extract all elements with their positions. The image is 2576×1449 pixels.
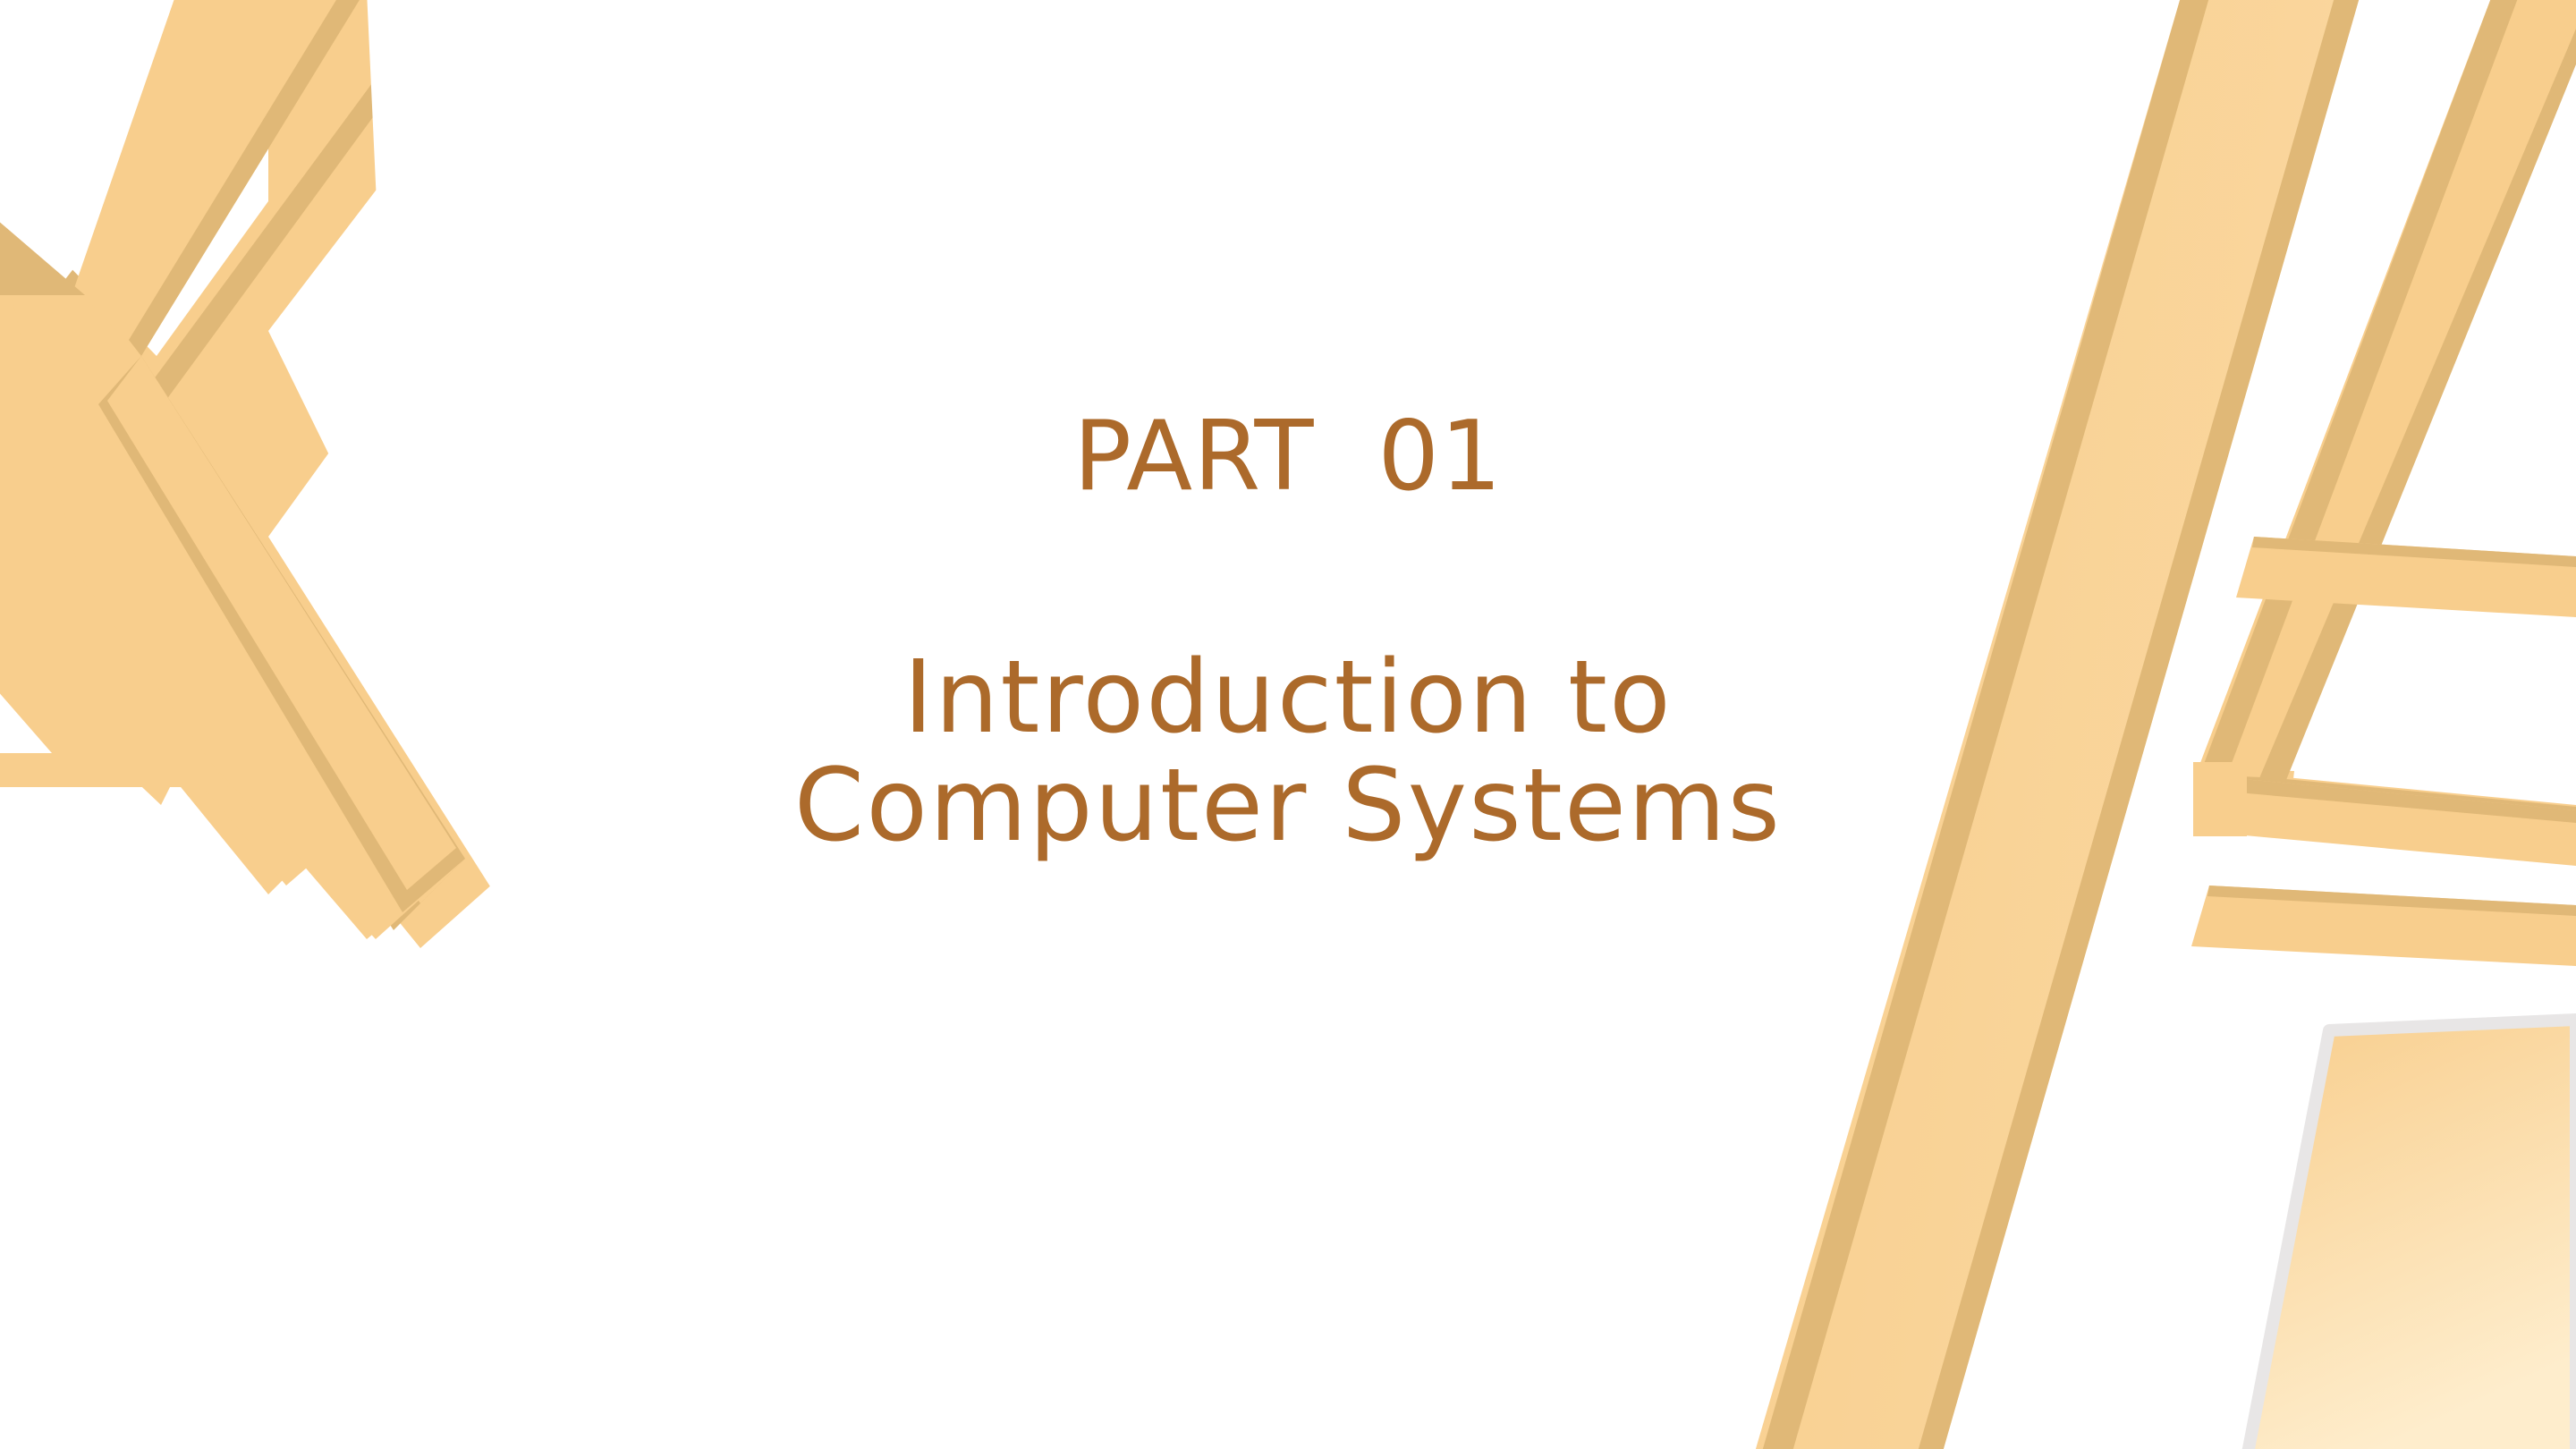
slide-content: PART 01 Introduction to Computer Systems [0,0,2576,1449]
title-slide: PART 01 Introduction to Computer Systems [0,0,2576,1449]
subtitle-line-2: Computer Systems [0,752,2576,860]
part-number-heading: PART 01 [0,404,2576,511]
slide-subtitle: Introduction to Computer Systems [0,644,2576,860]
subtitle-line-1: Introduction to [0,644,2576,752]
